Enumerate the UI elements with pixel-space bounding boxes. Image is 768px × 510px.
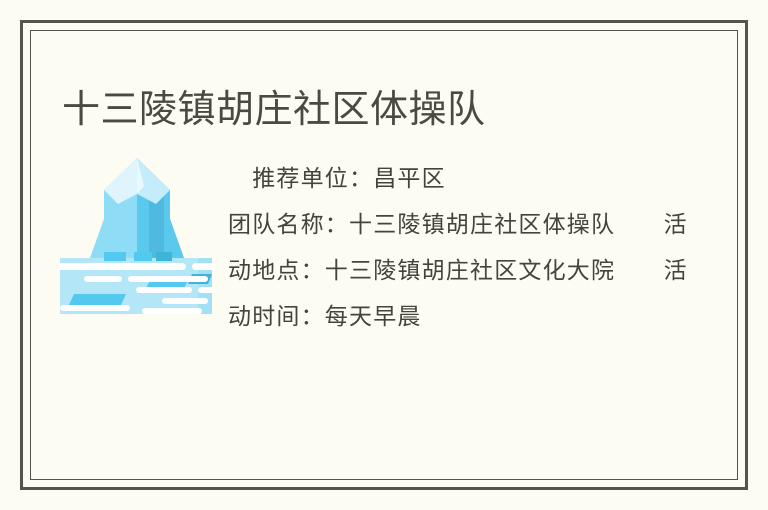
- iceberg-illustration: [52, 142, 220, 314]
- document-page: 十三陵镇胡庄社区体操队: [0, 0, 768, 510]
- page-title: 十三陵镇胡庄社区体操队: [62, 87, 682, 132]
- iceberg-icon: [52, 142, 220, 314]
- content-row: 推荐单位：昌平区 团队名称：十三陵镇胡庄社区体操队 活动地点：十三陵镇胡庄社区文…: [48, 140, 708, 340]
- activity-description: 推荐单位：昌平区 团队名称：十三陵镇胡庄社区体操队 活动地点：十三陵镇胡庄社区文…: [228, 156, 708, 340]
